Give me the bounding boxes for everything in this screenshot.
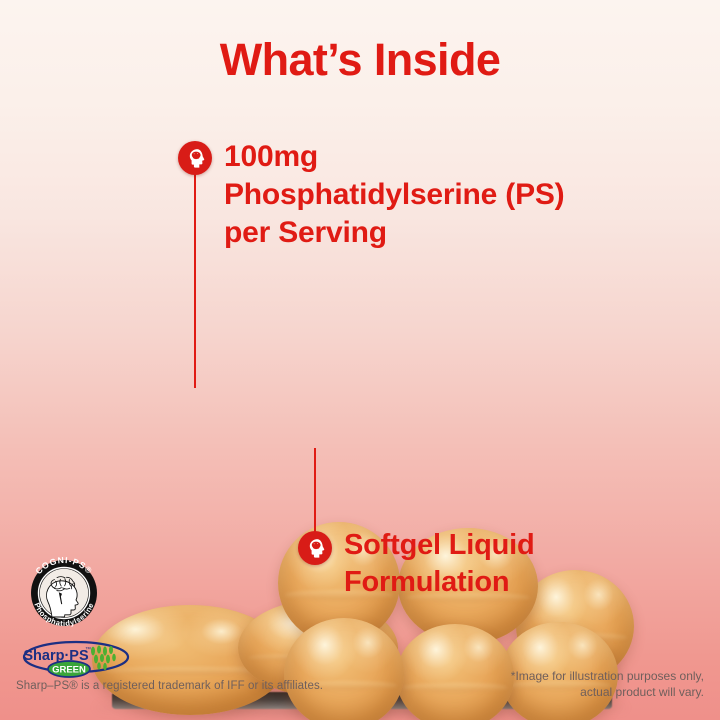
- callout-line: Formulation: [344, 564, 535, 601]
- softgel-capsule: [396, 624, 514, 720]
- page-title: What’s Inside: [0, 34, 720, 86]
- callout-text-formulation: Softgel Liquid Formulation: [344, 527, 535, 601]
- callout-line: per Serving: [224, 214, 564, 252]
- brain-head-icon: [178, 141, 212, 175]
- callout-line: 100mg: [224, 138, 564, 176]
- callout-leader-line: [314, 448, 316, 544]
- disclaimer-line: *Image for illustration purposes only,: [511, 668, 704, 684]
- product-infographic: What’s Inside 100mg Phosphatidylserine (…: [0, 0, 720, 720]
- sharp-ps-green-badge: GREEN: [52, 665, 86, 676]
- product-photo: [0, 240, 720, 500]
- image-disclaimer: *Image for illustration purposes only, a…: [511, 668, 704, 700]
- green-leaf-pattern: [91, 646, 116, 671]
- softgel-capsule: [284, 618, 404, 720]
- trademark-note: Sharp–PS® is a registered trademark of I…: [16, 680, 323, 692]
- callout-leader-line: [194, 172, 196, 388]
- brain-head-icon: [298, 531, 332, 565]
- sharp-ps-green-logo: Sharp·PS ™ GREEN: [22, 638, 130, 678]
- sharp-ps-trademark: ™: [85, 646, 91, 653]
- cogni-ps-seal-logo: COGNI-PS® Phosphatidylserine: [16, 557, 112, 629]
- callout-text-dosage: 100mg Phosphatidylserine (PS) per Servin…: [224, 138, 564, 252]
- callout-line: Softgel Liquid: [344, 527, 535, 564]
- callout-line: Phosphatidylserine (PS): [224, 176, 564, 214]
- disclaimer-line: actual product will vary.: [511, 684, 704, 700]
